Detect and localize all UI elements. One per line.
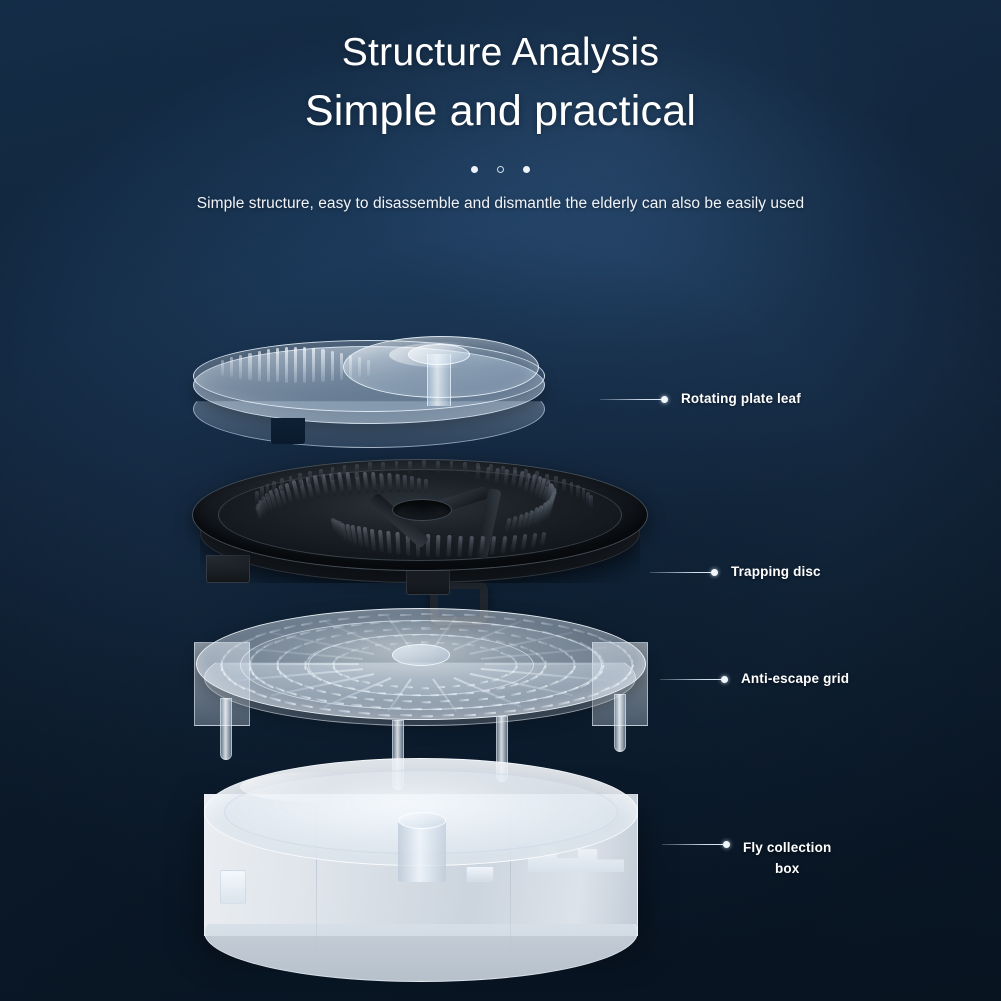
trapping-disc-rim-tooth: [355, 464, 359, 477]
anti-escape-grid-bar: [402, 627, 412, 630]
trapping-disc-rim-tooth: [381, 462, 385, 475]
trapping-disc-rim-tooth: [255, 491, 259, 504]
callout-dot: [721, 676, 728, 683]
anti-escape-grid-bar: [400, 613, 412, 615]
rotating-plate-slat: [267, 349, 270, 382]
anti-escape-grid-leg: [614, 694, 626, 752]
separator-dot-3: [523, 166, 530, 173]
rotating-plate-slat: [294, 347, 297, 383]
fly-box-center-tube: [398, 820, 446, 882]
trapping-disc-rim-tooth: [513, 467, 517, 480]
callout-dot: [723, 841, 730, 848]
trapping-disc-fin: [417, 478, 421, 493]
trapping-disc-rim-tooth: [554, 476, 558, 489]
separator-dot-1: [471, 166, 478, 173]
trapping-disc-rim-tooth: [298, 473, 302, 486]
callout-label: Rotating plate leaf: [681, 389, 801, 410]
trapping-disc-rim-tooth: [545, 474, 549, 487]
trapping-disc-foot-left: [206, 555, 250, 583]
callout-trapping-disc: Trapping disc: [650, 562, 821, 583]
rotating-plate-hub-cap: [408, 344, 470, 365]
trapping-disc-rim-tooth: [436, 461, 440, 474]
anti-escape-grid-bar: [421, 613, 433, 615]
callout-label-line1: Fly collection: [743, 840, 831, 855]
product-structure-poster: Structure Analysis Simple and practical …: [0, 0, 1001, 1001]
trapping-disc-fin: [423, 479, 427, 493]
callout-leader-line: [662, 844, 724, 845]
trapping-disc-rim-tooth: [368, 462, 372, 475]
callout-leader-line: [660, 679, 722, 680]
callout-label: Trapping disc: [731, 562, 821, 583]
poster-header: Structure Analysis Simple and practical …: [0, 0, 1001, 213]
trapping-disc-fin: [403, 475, 407, 492]
trapping-disc-rim-tooth: [589, 495, 593, 508]
anti-escape-grid-bar: [378, 713, 390, 716]
anti-escape-grid-bar: [442, 613, 454, 615]
trapping-disc-rim-tooth: [280, 478, 284, 491]
fly-box-center-tube-cap: [398, 812, 446, 829]
trapping-disc-rim-tooth: [260, 487, 264, 500]
trapping-disc-rim-tooth: [463, 462, 467, 475]
rotating-plate-slat: [239, 355, 242, 379]
trapping-disc-rim-tooth: [524, 469, 528, 482]
anti-escape-grid-bar: [421, 715, 433, 717]
anti-escape-grid-bar: [459, 628, 469, 631]
callout-fly-collection-box: Fly collection box: [662, 838, 831, 880]
rotating-plate-slat: [276, 348, 279, 382]
callout-anti-escape-grid: Anti-escape grid: [660, 669, 849, 690]
trapping-disc-rim-tooth: [576, 485, 580, 498]
part-rotating-plate-leaf: [193, 336, 545, 451]
trapping-disc-rim-tooth: [501, 466, 505, 479]
anti-escape-grid-bar: [390, 707, 401, 710]
callout-leader-line: [650, 572, 712, 573]
fly-box-tab-left: [220, 870, 246, 904]
callout-label: Anti-escape grid: [741, 669, 849, 690]
page-caption: Simple structure, easy to disassemble an…: [0, 195, 1001, 213]
trapping-disc-rim-tooth: [331, 467, 335, 480]
callout-label-line2: box: [743, 859, 831, 880]
trapping-disc-rim-tooth: [272, 481, 276, 494]
page-subtitle: Simple and practical: [0, 89, 1001, 134]
dot-separator: [0, 164, 1001, 174]
part-trapping-disc: [192, 443, 652, 601]
trapping-disc-rim-tooth: [408, 461, 412, 474]
anti-escape-grid-bar: [411, 708, 422, 710]
trapping-disc-rim-tooth: [289, 476, 293, 489]
trapping-disc-rim-tooth: [266, 484, 270, 497]
trapping-disc-rim-tooth: [562, 479, 566, 492]
rotating-plate-slat: [221, 360, 224, 376]
part-fly-collection-box: [204, 758, 638, 970]
trapping-disc-rim-tooth: [582, 488, 586, 501]
rotating-plate-slat: [321, 349, 324, 382]
anti-escape-grid-bar: [421, 701, 431, 703]
anti-escape-grid-bar: [431, 708, 442, 710]
part-anti-escape-grid: [196, 608, 646, 768]
trapping-disc-hub: [392, 499, 452, 521]
anti-escape-grid-bar: [464, 713, 476, 716]
callout-dot: [661, 396, 668, 403]
trapping-disc-rim-tooth: [489, 464, 493, 477]
rotating-plate-slat: [285, 347, 288, 383]
trapping-disc-rim-tooth: [319, 469, 323, 482]
trapping-disc-rim-tooth: [450, 461, 454, 474]
trapping-disc-foot-center: [406, 567, 450, 595]
anti-escape-grid-bar: [421, 627, 431, 629]
callout-label: Fly collection box: [743, 838, 831, 880]
rotating-plate-slat: [258, 351, 261, 381]
rotating-plate-slat: [248, 353, 251, 380]
anti-escape-grid-hub: [392, 644, 450, 666]
rotating-plate-slat: [312, 348, 315, 382]
fly-box-tab-right: [466, 866, 494, 882]
callout-rotating-plate-leaf: Rotating plate leaf: [600, 389, 801, 410]
trapping-disc-rim-tooth: [422, 460, 426, 473]
anti-escape-grid-bar: [370, 705, 381, 708]
trapping-disc-fin: [410, 476, 414, 492]
rotating-plate-slat: [303, 347, 306, 383]
trapping-disc-rim-tooth: [343, 465, 347, 478]
trapping-disc-rim-tooth: [395, 461, 399, 474]
anti-escape-grid-leg: [220, 698, 232, 760]
separator-dot-2: [497, 166, 504, 173]
trapping-disc-rim-tooth: [476, 463, 480, 476]
rotating-plate-notch: [271, 418, 305, 444]
trapping-disc-rim-tooth: [570, 482, 574, 495]
trapping-disc-fin: [395, 474, 400, 492]
callout-leader-line: [600, 399, 662, 400]
rotating-plate-slat: [230, 357, 233, 377]
page-title: Structure Analysis: [0, 33, 1001, 74]
trapping-disc-rim-tooth: [308, 471, 312, 484]
trapping-disc-rim-tooth: [535, 471, 539, 484]
callout-dot: [711, 569, 718, 576]
anti-escape-grid-bar: [383, 628, 393, 631]
rotating-plate-slat: [331, 351, 334, 381]
